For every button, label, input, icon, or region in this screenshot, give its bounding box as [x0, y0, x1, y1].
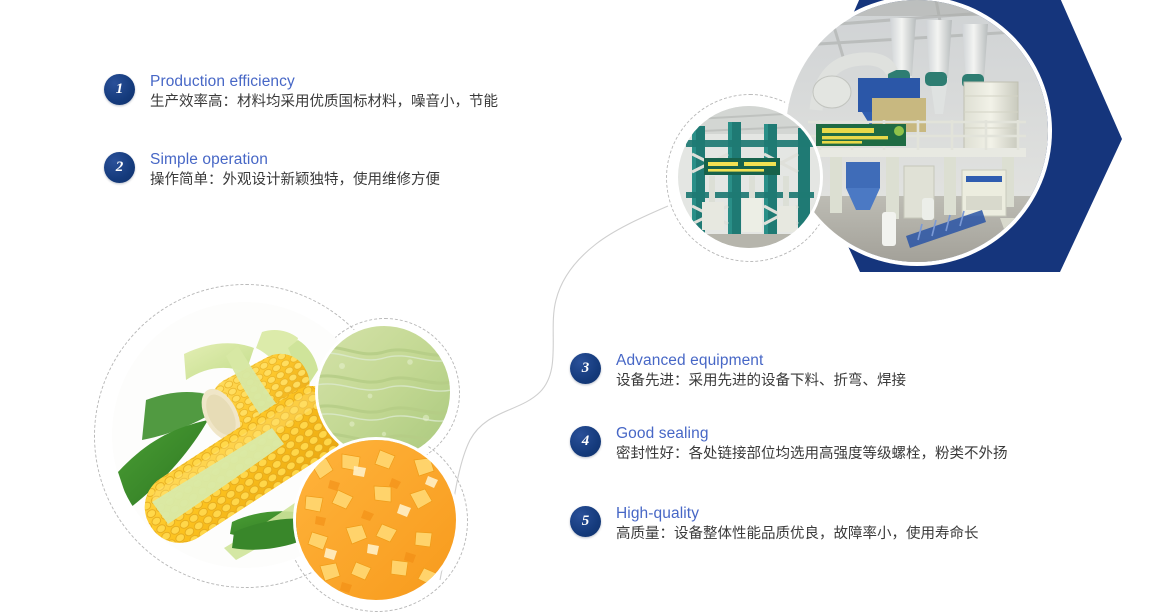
feature-item-3[interactable]: 3 Advanced equipment 设备先进：采用先进的设备下料、折弯、焊… [570, 353, 906, 392]
feature-description-2: 操作简单：外观设计新颖独特，使用维修方便 [150, 170, 440, 191]
feature-badge-1: 1 [104, 74, 135, 105]
feature-badge-5: 5 [570, 506, 601, 537]
feature-description-5: 高质量：设备整体性能品质优良，故障率小，使用寿命长 [616, 524, 979, 545]
corn-grits-photo [296, 440, 456, 600]
feature-description-4: 密封性好：各处链接部位均选用高强度等级螺栓，粉类不外扬 [616, 444, 1008, 465]
feature-description-1: 生产效率高：材料均采用优质国标材料，噪音小，节能 [150, 92, 498, 113]
feature-item-1[interactable]: 1 Production efficiency 生产效率高：材料均采用优质国标材… [104, 74, 498, 113]
feature-text-3: Advanced equipment 设备先进：采用先进的设备下料、折弯、焊接 [616, 351, 906, 392]
feature-text-4: Good sealing 密封性好：各处链接部位均选用高强度等级螺栓，粉类不外扬 [616, 424, 1008, 465]
flour-milling-plant-photo [786, 0, 1048, 262]
feature-item-2[interactable]: 2 Simple operation 操作简单：外观设计新颖独特，使用维修方便 [104, 152, 440, 191]
feature-item-4[interactable]: 4 Good sealing 密封性好：各处链接部位均选用高强度等级螺栓，粉类不… [570, 426, 1008, 465]
green-corn-flour-photo [318, 326, 450, 458]
feature-heading-5: High-quality [616, 504, 979, 523]
corn-media-cluster [88, 282, 500, 591]
green-milling-machinery-photo [678, 106, 820, 248]
feature-heading-4: Good sealing [616, 424, 1008, 443]
hexagon-media-badge [660, 0, 1154, 280]
feature-badge-4: 4 [570, 426, 601, 457]
feature-text-5: High-quality 高质量：设备整体性能品质优良，故障率小，使用寿命长 [616, 504, 979, 545]
feature-text-2: Simple operation 操作简单：外观设计新颖独特，使用维修方便 [150, 150, 440, 191]
feature-badge-2: 2 [104, 152, 135, 183]
feature-text-1: Production efficiency 生产效率高：材料均采用优质国标材料，… [150, 72, 498, 113]
feature-description-3: 设备先进：采用先进的设备下料、折弯、焊接 [616, 371, 906, 392]
feature-item-5[interactable]: 5 High-quality 高质量：设备整体性能品质优良，故障率小，使用寿命长 [570, 506, 979, 545]
feature-heading-3: Advanced equipment [616, 351, 906, 370]
feature-badge-3: 3 [570, 353, 601, 384]
infographic-canvas: 1 Production efficiency 生产效率高：材料均采用优质国标材… [0, 0, 1154, 591]
feature-heading-2: Simple operation [150, 150, 440, 169]
feature-heading-1: Production efficiency [150, 72, 498, 91]
